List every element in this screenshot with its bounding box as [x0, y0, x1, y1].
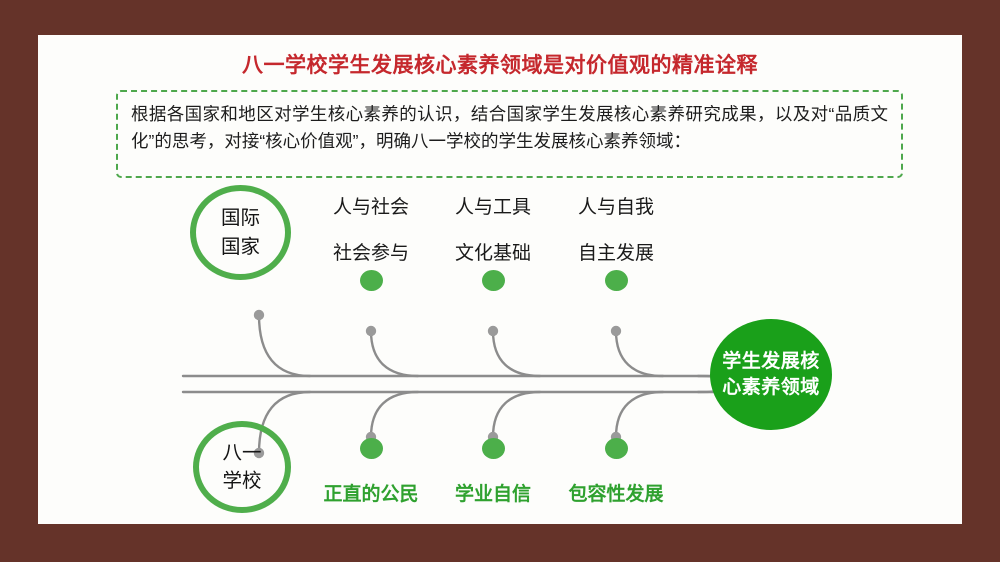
node-core-line2: 心素养领域	[722, 375, 820, 401]
column-3-bottom-dot-icon	[605, 438, 628, 459]
intro-paragraph: 根据各国家和地区对学生核心素养的认识，结合国家学生发展核心素养研究成果，以及对“…	[131, 101, 888, 155]
column-1-bottom-dot-icon	[360, 438, 383, 459]
slide-canvas: 八一学校学生发展核心素养领域是对价值观的精准诠释 根据各国家和地区对学生核心素养…	[38, 35, 962, 524]
column-1-bottom-label: 正直的公民	[301, 485, 441, 504]
column-1-top-dot-icon	[360, 270, 383, 291]
column-3-top-label-1: 人与自我	[556, 198, 676, 217]
node-core-literacy[interactable]: 学生发展核 心素养领域	[710, 319, 832, 430]
node-international-line2: 国家	[221, 233, 260, 261]
column-1-top-label-1: 人与社会	[311, 198, 431, 217]
column-3-top-label-2: 自主发展	[556, 244, 676, 263]
column-1-top-label-2: 社会参与	[311, 244, 431, 263]
column-2-bottom-label: 学业自信	[428, 485, 558, 504]
column-2-top-label-1: 人与工具	[433, 198, 553, 217]
slide-root: 八一学校学生发展核心素养领域是对价值观的精准诠释 根据各国家和地区对学生核心素养…	[0, 0, 1000, 562]
column-2-top-dot-icon	[482, 270, 505, 291]
node-bayi-school[interactable]: 八一 学校	[193, 421, 291, 513]
node-international-line1: 国际	[221, 204, 260, 232]
column-3-bottom-label: 包容性发展	[546, 485, 686, 504]
column-3-top-dot-icon	[605, 270, 628, 291]
column-2-bottom-dot-icon	[482, 438, 505, 459]
page-title: 八一学校学生发展核心素养领域是对价值观的精准诠释	[38, 49, 962, 79]
node-international-country[interactable]: 国际 国家	[190, 185, 291, 280]
intro-textbox: 根据各国家和地区对学生核心素养的认识，结合国家学生发展核心素养研究成果，以及对“…	[116, 90, 903, 178]
node-core-line1: 学生发展核	[722, 349, 820, 375]
node-bayi-line1: 八一	[222, 439, 261, 467]
diagram-area: 国际 国家 八一 学校 学生发展核 心素养领域 人与社会 社会参与 正直的公民 …	[38, 180, 962, 524]
column-2-top-label-2: 文化基础	[433, 244, 553, 263]
node-bayi-line2: 学校	[222, 467, 261, 495]
